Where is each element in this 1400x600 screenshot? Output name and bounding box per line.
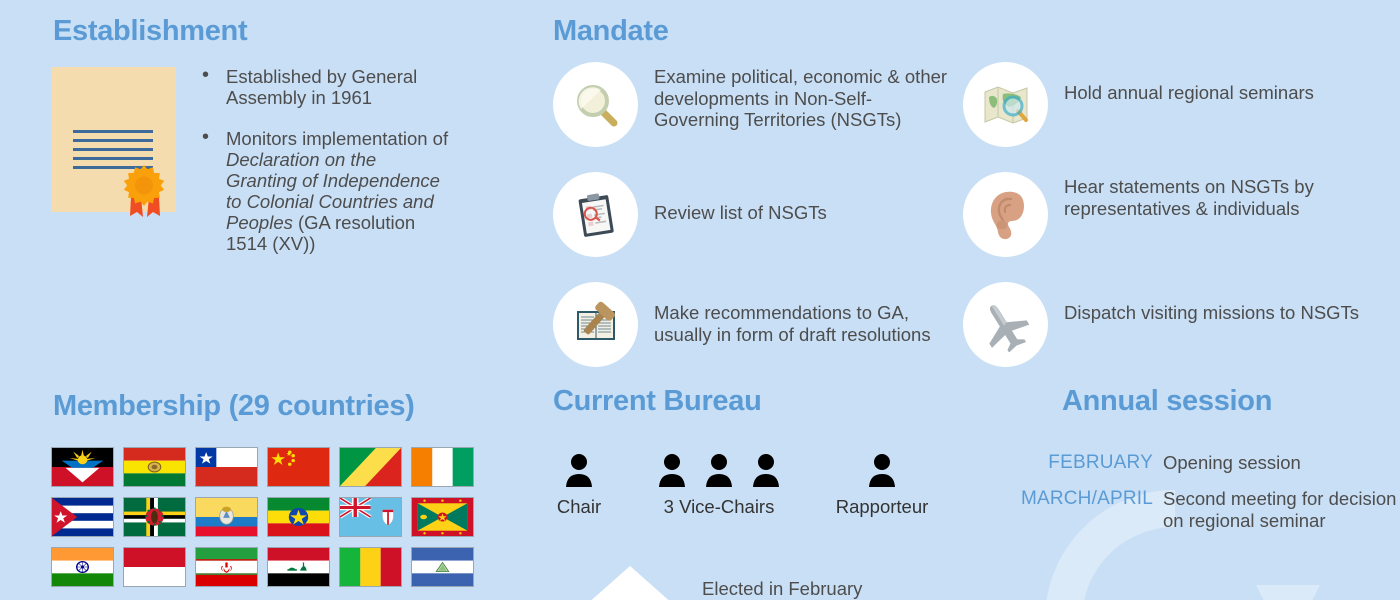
mandate-item-recommendations: Make recommendations to GA, usually in f… xyxy=(553,282,953,382)
person-icon xyxy=(565,453,593,487)
bureau-election-note: Elected in February xyxy=(702,578,862,600)
bureau-role-label: Chair xyxy=(545,496,613,518)
annual-session-month: MARCH/APRIL xyxy=(1000,488,1163,531)
person-icons xyxy=(645,447,793,487)
flag-china xyxy=(267,447,330,487)
map-magnifier-icon xyxy=(963,62,1048,147)
flag-mali xyxy=(339,547,402,587)
flag-cuba xyxy=(51,497,114,537)
bullet-text: Established by General Assembly in 1961 xyxy=(226,66,417,108)
flag-nicaragua xyxy=(411,547,474,587)
establishment-bullet-2: Monitors implementation of Declaration o… xyxy=(199,128,449,254)
infographic-canvas: Establishment Established by General Ass… xyxy=(0,0,1400,600)
flag-iraq xyxy=(267,547,330,587)
flag-india xyxy=(51,547,114,587)
membership-flag-grid xyxy=(51,447,491,587)
gavel-book-icon xyxy=(553,282,638,367)
certificate-seal-icon xyxy=(51,67,176,217)
bureau-role-vice-chairs: 3 Vice-Chairs xyxy=(645,447,793,518)
bureau-role-rapporteur: Rapporteur xyxy=(808,447,956,518)
mandate-text: Make recommendations to GA, usually in f… xyxy=(654,282,953,345)
magnifying-glass-icon xyxy=(553,62,638,147)
establishment-heading: Establishment xyxy=(53,15,247,48)
annual-session-heading: Annual session xyxy=(1062,385,1272,418)
annual-session-description: Opening session xyxy=(1163,452,1301,474)
ear-icon xyxy=(963,172,1048,257)
annual-session-month: FEBRUARY xyxy=(1000,452,1163,474)
annual-session-description: Second meeting for decision on regional … xyxy=(1163,488,1400,531)
person-icons xyxy=(545,447,613,487)
mandate-heading: Mandate xyxy=(553,15,669,48)
flag-dominica xyxy=(123,497,186,537)
white-arrow-decoration xyxy=(560,566,700,600)
person-icon xyxy=(868,453,896,487)
person-icon xyxy=(705,453,733,487)
flag-ethiopia xyxy=(267,497,330,537)
mandate-text: Dispatch visiting missions to NSGTs xyxy=(1064,282,1359,324)
flag-fiji xyxy=(339,497,402,537)
mandate-text: Examine political, economic & other deve… xyxy=(654,62,953,131)
person-icons xyxy=(808,447,956,487)
establishment-bullet-list: Established by General Assembly in 1961 … xyxy=(199,66,449,274)
mandate-left-column: Examine political, economic & other deve… xyxy=(553,62,953,392)
flag-bolivia xyxy=(123,447,186,487)
flag-cote-divoire xyxy=(411,447,474,487)
flag-chile xyxy=(195,447,258,487)
person-icon xyxy=(658,453,686,487)
membership-heading: Membership (29 countries) xyxy=(53,390,415,423)
bureau-role-label: 3 Vice-Chairs xyxy=(645,496,793,518)
mandate-right-column: Hold annual regional seminars Hear state… xyxy=(963,62,1383,392)
mandate-item-seminars: Hold annual regional seminars xyxy=(963,62,1383,162)
annual-session-rows: FEBRUARY Opening session MARCH/APRIL Sec… xyxy=(1000,452,1400,545)
annual-session-row: MARCH/APRIL Second meeting for decision … xyxy=(1000,488,1400,531)
bullet-text-lead: Monitors implementation of xyxy=(226,128,448,149)
flag-congo xyxy=(339,447,402,487)
bureau-role-label: Rapporteur xyxy=(808,496,956,518)
establishment-bullet-1: Established by General Assembly in 1961 xyxy=(199,66,449,108)
mandate-text: Hear statements on NSGTs by representati… xyxy=(1064,172,1383,219)
mandate-item-hear-statements: Hear statements on NSGTs by representati… xyxy=(963,172,1383,272)
flag-indonesia xyxy=(123,547,186,587)
flag-ecuador xyxy=(195,497,258,537)
mandate-item-visiting-missions: Dispatch visiting missions to NSGTs xyxy=(963,282,1383,382)
certificate-seal-star xyxy=(123,165,165,207)
mandate-item-examine: Examine political, economic & other deve… xyxy=(553,62,953,162)
clipboard-checklist-icon xyxy=(553,172,638,257)
flag-iran xyxy=(195,547,258,587)
annual-session-row: FEBRUARY Opening session xyxy=(1000,452,1400,474)
mandate-text: Review list of NSGTs xyxy=(654,172,827,224)
mandate-item-review: Review list of NSGTs xyxy=(553,172,953,272)
bureau-role-chair: Chair xyxy=(545,447,613,518)
person-icon xyxy=(752,453,780,487)
flag-grenada xyxy=(411,497,474,537)
bureau-heading: Current Bureau xyxy=(553,385,762,418)
airplane-icon xyxy=(963,282,1048,367)
mandate-text: Hold annual regional seminars xyxy=(1064,62,1314,104)
flag-antigua-and-barbuda xyxy=(51,447,114,487)
